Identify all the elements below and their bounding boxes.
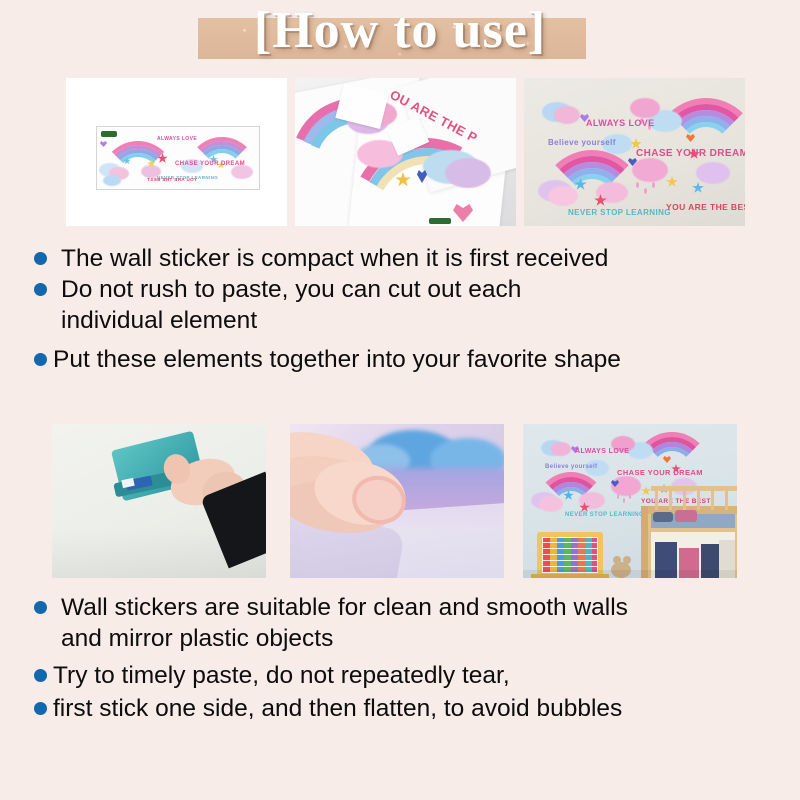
photo-sticker-sheet: ALWAYS LOVE CHASE YOUR DREAM NEVER STOP … xyxy=(66,78,287,226)
list-item: Put these elements together into your fa… xyxy=(34,344,774,375)
sticker-text-never-stop: NEVER STOP LEARNING xyxy=(565,512,644,518)
sticker-sheet: ALWAYS LOVE CHASE YOUR DREAM NEVER STOP … xyxy=(96,126,260,190)
list-item-continuation: individual element xyxy=(34,305,774,336)
list-item-label: Do not rush to paste, you can cut out ea… xyxy=(61,274,521,305)
list-item-label: and mirror plastic objects xyxy=(61,623,333,654)
page-title: [How to use] xyxy=(0,0,800,62)
sticker-text-you-are-best: YOU ARE THE BEST xyxy=(641,498,711,505)
list-item-label: Try to timely paste, do not repeatedly t… xyxy=(53,660,510,691)
instructions-list-bottom: Wall stickers are suitable for clean and… xyxy=(34,592,774,724)
bullet-dot-icon xyxy=(34,601,47,614)
list-item: Do not rush to paste, you can cut out ea… xyxy=(34,274,774,305)
sticker-text-always-love: ALWAYS LOVE xyxy=(586,118,655,128)
photo-cut-out-elements: OU ARE THE P xyxy=(295,78,516,226)
bullet-dot-icon xyxy=(34,353,47,366)
sticker-text-chase-dream: CHASE YOUR DREAM xyxy=(636,148,745,159)
list-item-label: individual element xyxy=(61,305,257,336)
photo-kids-bedroom: ALWAYS LOVE Believe yourself CHASE YOUR … xyxy=(523,424,737,578)
bullet-dot-icon xyxy=(34,702,47,715)
list-item: Wall stickers are suitable for clean and… xyxy=(34,592,774,623)
sticker-text-never-stop: NEVER STOP LEARNING xyxy=(568,208,671,217)
bullet-dot-icon xyxy=(34,252,47,265)
sticker-text-you-are-best: YOU ARE THE BEST xyxy=(147,177,197,182)
list-item: first stick one side, and then flatten, … xyxy=(34,693,774,724)
list-item-continuation: and mirror plastic objects xyxy=(34,623,774,654)
sticker-text-believe-yourself: Believe yourself xyxy=(548,138,616,147)
list-item-label: Wall stickers are suitable for clean and… xyxy=(61,592,628,623)
list-item-label: first stick one side, and then flatten, … xyxy=(53,693,622,724)
instructions-list-top: The wall sticker is compact when it is f… xyxy=(34,243,774,375)
list-item: The wall sticker is compact when it is f… xyxy=(34,243,774,274)
page-header: [How to use] xyxy=(0,0,800,68)
sticker-text-always-love: ALWAYS LOVE xyxy=(575,448,629,455)
list-item-label: Put these elements together into your fa… xyxy=(53,344,621,375)
photo-wiping-wall xyxy=(52,424,266,578)
sticker-text-chase-dream: CHASE YOUR DREAM xyxy=(617,468,703,477)
sticker-text-always-love: ALWAYS LOVE xyxy=(157,136,197,142)
sticker-text-you-are-best: YOU ARE THE BEST xyxy=(666,202,745,212)
bullet-dot-icon xyxy=(34,669,47,682)
photo-peeling-backing xyxy=(290,424,504,578)
photo-arranged-on-wall: ALWAYS LOVE Believe yourself CHASE YOUR … xyxy=(524,78,745,226)
list-item-label: The wall sticker is compact when it is f… xyxy=(61,243,608,274)
bullet-dot-icon xyxy=(34,283,47,296)
sticker-text-chase-dream: CHASE YOUR DREAM xyxy=(175,161,245,167)
sticker-text-believe-yourself: Believe yourself xyxy=(545,464,597,470)
list-item: Try to timely paste, do not repeatedly t… xyxy=(34,660,774,691)
